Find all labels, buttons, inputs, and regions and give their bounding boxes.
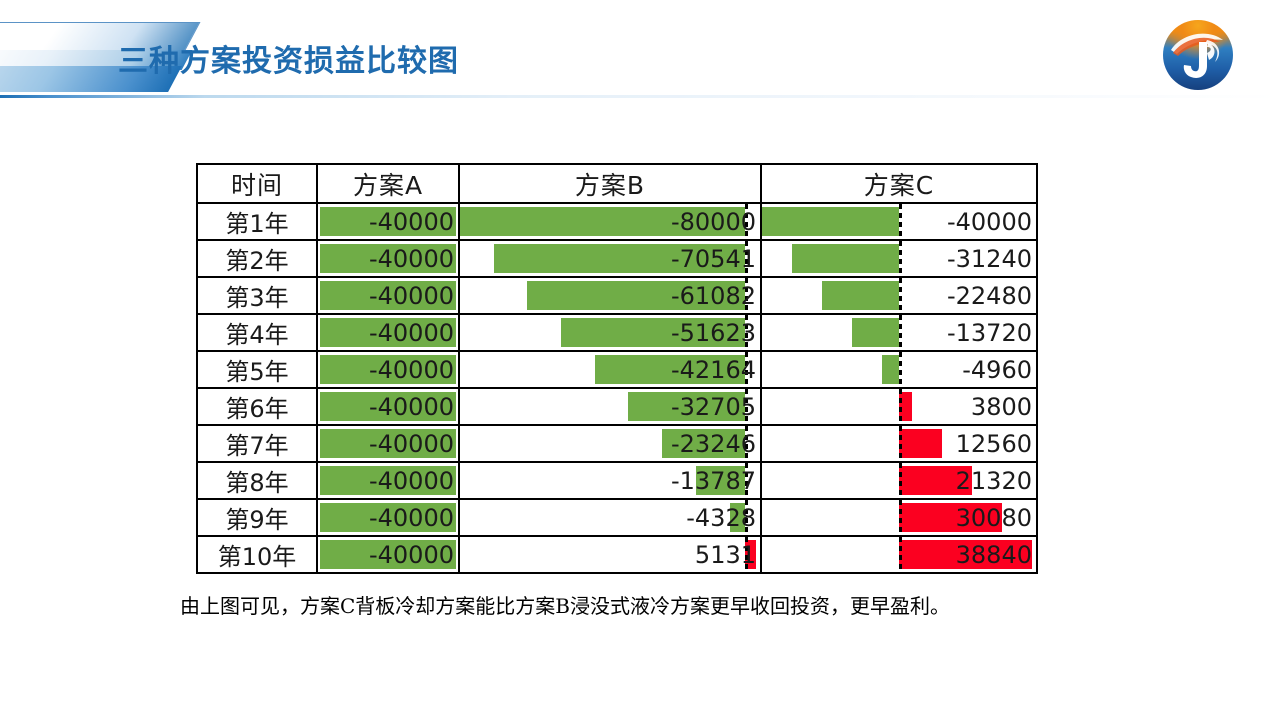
cell-plan-b: -61082 — [459, 277, 761, 314]
slide-caption: 由上图可见，方案C背板冷却方案能比方案B浸没式液冷方案更早收回投资，更早盈利。 — [180, 590, 1140, 619]
cell-plan-b: -70541 — [459, 240, 761, 277]
cell-value-plan-b: -80000 — [671, 204, 756, 239]
table-row: 第5年-40000-42164-4960 — [197, 351, 1037, 388]
cell-value-plan-c: -4960 — [962, 352, 1032, 387]
cell-value-plan-a: -40000 — [369, 426, 454, 461]
cell-value-plan-a: -40000 — [369, 241, 454, 276]
table-body: 第1年-40000-80000-40000第2年-40000-70541-312… — [197, 203, 1037, 573]
cell-year: 第3年 — [197, 277, 317, 314]
zero-axis-plan-c — [899, 389, 902, 424]
cell-plan-a: -40000 — [317, 388, 459, 425]
cell-value-plan-b: -51623 — [671, 315, 756, 350]
cell-plan-a: -40000 — [317, 277, 459, 314]
zero-axis-plan-c — [899, 352, 902, 387]
cell-plan-c: -4960 — [761, 351, 1037, 388]
table-row: 第7年-40000-2324612560 — [197, 425, 1037, 462]
zero-axis-plan-c — [899, 315, 902, 350]
cell-value-plan-a: -40000 — [369, 537, 454, 572]
data-bar-plan-c — [882, 355, 899, 384]
table-row: 第6年-40000-327053800 — [197, 388, 1037, 425]
cell-plan-c: 3800 — [761, 388, 1037, 425]
zero-axis-plan-c — [899, 426, 902, 461]
table-header-row: 时间 方案A 方案B 方案C — [197, 164, 1037, 203]
column-header-plan-c: 方案C — [761, 164, 1037, 203]
cell-value-plan-a: -40000 — [369, 352, 454, 387]
cell-plan-a: -40000 — [317, 536, 459, 573]
zero-axis-plan-c — [899, 204, 902, 239]
cell-year: 第6年 — [197, 388, 317, 425]
cell-value-plan-c: 21320 — [956, 463, 1032, 498]
cell-plan-c: 12560 — [761, 425, 1037, 462]
cell-value-plan-a: -40000 — [369, 463, 454, 498]
cell-year: 第4年 — [197, 314, 317, 351]
zero-axis-plan-c — [899, 463, 902, 498]
cell-value-plan-b: 5131 — [695, 537, 756, 572]
cell-value-plan-c: 3800 — [971, 389, 1032, 424]
column-header-plan-b: 方案B — [459, 164, 761, 203]
data-bar-plan-c — [762, 207, 899, 236]
cell-value-plan-c: -31240 — [947, 241, 1032, 276]
cell-year: 第1年 — [197, 203, 317, 240]
cell-plan-b: -42164 — [459, 351, 761, 388]
cell-value-plan-b: -4328 — [686, 500, 756, 535]
cell-value-plan-c: -22480 — [947, 278, 1032, 313]
column-header-time: 时间 — [197, 164, 317, 203]
slide-canvas: 三种方案投资损益比较图 时间 方案A 方案B 方案C 第1年-40000-800… — [0, 0, 1280, 720]
cell-year: 第8年 — [197, 462, 317, 499]
cell-value-plan-c: 30080 — [956, 500, 1032, 535]
cell-year: 第9年 — [197, 499, 317, 536]
cell-value-plan-b: -42164 — [671, 352, 756, 387]
cell-plan-a: -40000 — [317, 351, 459, 388]
data-bar-plan-c — [852, 318, 899, 347]
cell-plan-b: -13787 — [459, 462, 761, 499]
cell-value-plan-b: -13787 — [671, 463, 756, 498]
zero-axis-plan-c — [899, 537, 902, 572]
cell-plan-a: -40000 — [317, 499, 459, 536]
cell-plan-a: -40000 — [317, 203, 459, 240]
table-row: 第8年-40000-1378721320 — [197, 462, 1037, 499]
cell-value-plan-b: -23246 — [671, 426, 756, 461]
table-row: 第10年-40000513138840 — [197, 536, 1037, 573]
cell-plan-b: -51623 — [459, 314, 761, 351]
table-row: 第2年-40000-70541-31240 — [197, 240, 1037, 277]
header-divider-rule — [0, 95, 1280, 98]
cell-plan-c: -40000 — [761, 203, 1037, 240]
column-header-plan-a: 方案A — [317, 164, 459, 203]
cell-value-plan-a: -40000 — [369, 278, 454, 313]
cell-year: 第2年 — [197, 240, 317, 277]
cell-value-plan-a: -40000 — [369, 500, 454, 535]
cell-plan-c: -31240 — [761, 240, 1037, 277]
cell-plan-c: 21320 — [761, 462, 1037, 499]
cell-value-plan-c: -40000 — [947, 204, 1032, 239]
zero-axis-plan-c — [899, 278, 902, 313]
cell-plan-b: -80000 — [459, 203, 761, 240]
cell-value-plan-b: -61082 — [671, 278, 756, 313]
cell-value-plan-c: 12560 — [956, 426, 1032, 461]
table-row: 第1年-40000-80000-40000 — [197, 203, 1037, 240]
company-logo-icon — [1163, 20, 1233, 90]
cell-plan-c: -22480 — [761, 277, 1037, 314]
zero-axis-plan-c — [899, 500, 902, 535]
cell-plan-b: 5131 — [459, 536, 761, 573]
cell-plan-c: 38840 — [761, 536, 1037, 573]
cell-plan-a: -40000 — [317, 240, 459, 277]
cell-value-plan-b: -32705 — [671, 389, 756, 424]
cell-plan-b: -4328 — [459, 499, 761, 536]
cell-year: 第7年 — [197, 425, 317, 462]
cell-plan-a: -40000 — [317, 462, 459, 499]
data-bar-plan-c — [792, 244, 899, 273]
cell-value-plan-b: -70541 — [671, 241, 756, 276]
cell-value-plan-a: -40000 — [369, 204, 454, 239]
table-row: 第9年-40000-432830080 — [197, 499, 1037, 536]
cell-value-plan-c: -13720 — [947, 315, 1032, 350]
cell-year: 第5年 — [197, 351, 317, 388]
cell-value-plan-a: -40000 — [369, 315, 454, 350]
cell-plan-b: -23246 — [459, 425, 761, 462]
cell-plan-c: 30080 — [761, 499, 1037, 536]
cell-plan-a: -40000 — [317, 314, 459, 351]
cell-year: 第10年 — [197, 536, 317, 573]
zero-axis-plan-c — [899, 241, 902, 276]
cell-value-plan-c: 38840 — [956, 537, 1032, 572]
investment-comparison-table: 时间 方案A 方案B 方案C 第1年-40000-80000-40000第2年-… — [196, 163, 1038, 574]
cell-plan-c: -13720 — [761, 314, 1037, 351]
cell-value-plan-a: -40000 — [369, 389, 454, 424]
table-row: 第3年-40000-61082-22480 — [197, 277, 1037, 314]
cell-plan-a: -40000 — [317, 425, 459, 462]
data-bar-plan-c — [899, 429, 942, 458]
page-title: 三种方案投资损益比较图 — [118, 36, 459, 80]
cell-plan-b: -32705 — [459, 388, 761, 425]
table-row: 第4年-40000-51623-13720 — [197, 314, 1037, 351]
data-bar-plan-c — [822, 281, 899, 310]
